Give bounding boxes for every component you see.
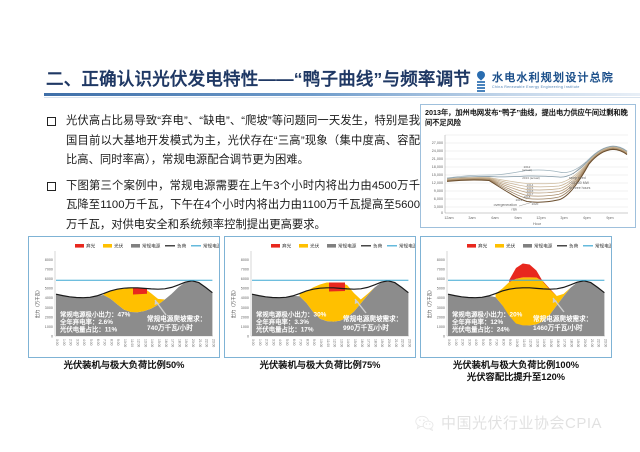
svg-text:17:00: 17:00 [367, 339, 371, 347]
svg-text:15:00: 15:00 [549, 339, 553, 347]
water-drop-icon [476, 70, 487, 92]
svg-text:4000: 4000 [437, 296, 445, 300]
slide-canvas: 二、正确认识光伏发电特性——“鸭子曲线”与频率调节 水电水利规划设计总院 Chi… [0, 0, 640, 452]
svg-text:7000: 7000 [437, 268, 445, 272]
svg-text:22:00: 22:00 [597, 339, 601, 347]
svg-text:7000: 7000 [241, 268, 249, 272]
svg-text:11:00: 11:00 [326, 339, 330, 347]
svg-text:出力（万千瓦）: 出力（万千瓦） [426, 288, 433, 319]
svg-text:10:00: 10:00 [319, 339, 323, 347]
svg-text:0: 0 [441, 211, 443, 215]
svg-text:1000: 1000 [437, 325, 445, 329]
svg-text:16:00: 16:00 [164, 339, 168, 347]
svg-text:8000: 8000 [241, 258, 249, 262]
square-bullet-icon [47, 117, 56, 126]
svg-text:7000: 7000 [45, 268, 53, 272]
chart-caption-100: 光伏装机与极大负荷比例100% 光伏容配比提升至120% [420, 360, 612, 383]
svg-text:常规电源开机: 常规电源开机 [399, 243, 415, 250]
svg-text:光伏: 光伏 [506, 243, 516, 250]
svg-text:12,000: 12,000 [432, 181, 443, 185]
duck-curve-panel: 2013年，加州电网发布“鸭子”曲线，提出电力供应午间过剩和晚间不足风险 0 [420, 104, 636, 228]
svg-text:18:00: 18:00 [373, 339, 377, 347]
svg-text:13:00: 13:00 [535, 339, 539, 347]
svg-text:光伏: 光伏 [310, 243, 320, 250]
svg-text:常规电源开机: 常规电源开机 [203, 243, 219, 250]
svg-text:17:00: 17:00 [171, 339, 175, 347]
svg-text:全年弃电率：2.6%: 全年弃电率：2.6% [59, 317, 113, 326]
svg-text:23:00: 23:00 [407, 339, 411, 347]
title-divider-secondary [44, 97, 640, 98]
svg-text:6000: 6000 [45, 277, 53, 281]
svg-text:19:00: 19:00 [184, 339, 188, 347]
svg-text:1000: 1000 [241, 325, 249, 329]
svg-text:常规电源: 常规电源 [338, 243, 357, 250]
svg-text:15:00: 15:00 [157, 339, 161, 347]
svg-text:in three hours: in three hours [569, 186, 591, 190]
svg-text:6am: 6am [491, 216, 498, 220]
svg-text:1000: 1000 [45, 325, 53, 329]
svg-text:常规电源: 常规电源 [142, 243, 161, 250]
svg-text:2000: 2000 [437, 315, 445, 319]
svg-text:常规电源极小出力：20%: 常规电源极小出力：20% [452, 310, 523, 319]
svg-text:3000: 3000 [241, 306, 249, 310]
svg-text:(actual): (actual) [522, 168, 532, 172]
body-bullets: 光伏高占比易导致“弃电”、“缺电”、“爬坡”等问题同一天发生，特别是我国目前以大… [44, 112, 420, 241]
svg-text:6,000: 6,000 [434, 197, 443, 201]
svg-text:5000: 5000 [437, 287, 445, 291]
duck-curve-caption: 2013年，加州电网发布“鸭子”曲线，提出电力供应午间过剩和晚间不足风险 [425, 108, 633, 128]
svg-text:5:00: 5:00 [285, 339, 289, 346]
svg-text:10:00: 10:00 [123, 339, 127, 347]
square-bullet-icon [47, 182, 56, 191]
svg-text:2:00: 2:00 [265, 339, 269, 346]
svg-text:3:00: 3:00 [75, 339, 79, 346]
svg-text:5000: 5000 [45, 287, 53, 291]
svg-text:16:00: 16:00 [556, 339, 560, 347]
svg-text:4000: 4000 [241, 296, 249, 300]
svg-text:6pm: 6pm [583, 216, 590, 220]
svg-text:12:00: 12:00 [137, 339, 141, 347]
duck-curve-chart: 0 3,000 6,000 9,000 12,000 15,000 18,000… [423, 129, 635, 226]
svg-text:20:00: 20:00 [191, 339, 195, 347]
svg-text:21:00: 21:00 [394, 339, 398, 347]
svg-text:22:00: 22:00 [401, 339, 405, 347]
svg-text:负荷: 负荷 [569, 243, 579, 250]
svg-text:常规电源开机: 常规电源开机 [595, 243, 611, 250]
svg-text:9pm: 9pm [606, 216, 613, 220]
svg-text:12am: 12am [444, 216, 453, 220]
svg-text:常规电源爬坡需求：: 常规电源爬坡需求： [147, 314, 206, 323]
svg-text:4:00: 4:00 [474, 339, 478, 346]
svg-text:7:00: 7:00 [495, 339, 499, 346]
svg-text:1:00: 1:00 [454, 339, 458, 346]
svg-text:3:00: 3:00 [271, 339, 275, 346]
svg-text:17:00: 17:00 [563, 339, 567, 347]
svg-text:8000: 8000 [45, 258, 53, 262]
svg-text:出力（万千瓦）: 出力（万千瓦） [230, 288, 237, 319]
svg-text:14:00: 14:00 [150, 339, 154, 347]
svg-text:risk: risk [512, 208, 518, 212]
svg-text:21:00: 21:00 [590, 339, 594, 347]
svg-text:3000: 3000 [437, 306, 445, 310]
svg-text:13:00: 13:00 [339, 339, 343, 347]
svg-text:5000: 5000 [241, 287, 249, 291]
svg-text:弃光: 弃光 [86, 243, 96, 250]
svg-text:19:00: 19:00 [576, 339, 580, 347]
svg-text:20:00: 20:00 [583, 339, 587, 347]
footer-watermark: 中国光伏行业协会CPIA [415, 412, 602, 433]
svg-text:7:00: 7:00 [299, 339, 303, 346]
svg-text:1:00: 1:00 [62, 339, 66, 346]
svg-text:光伏电量占比：17%: 光伏电量占比：17% [255, 325, 314, 334]
scenario-chart-100: 0 1000 2000 3000 4000 5000 6000 7000 800… [420, 236, 612, 358]
svg-text:全年弃电率：3.3%: 全年弃电率：3.3% [255, 317, 309, 326]
svg-text:18,000: 18,000 [432, 165, 443, 169]
svg-text:负荷: 负荷 [373, 243, 383, 250]
svg-text:14:00: 14:00 [346, 339, 350, 347]
svg-text:24,000: 24,000 [432, 149, 443, 153]
svg-text:0: 0 [443, 335, 445, 339]
svg-text:23:00: 23:00 [603, 339, 607, 347]
svg-text:0:00: 0:00 [447, 339, 451, 346]
institute-logo: 水电水利规划设计总院 China Renewable Energy Engine… [476, 70, 614, 92]
svg-text:常规电源爬坡需求：: 常规电源爬坡需求： [343, 314, 402, 323]
svg-text:1:00: 1:00 [258, 339, 262, 346]
caption-line: 光伏容配比提升至120% [420, 372, 612, 384]
wechat-icon [415, 415, 434, 431]
watermark-text: 中国光伏行业协会CPIA [441, 412, 602, 433]
caption-line: 光伏装机与极大负荷比例75% [224, 360, 416, 372]
svg-text:2:00: 2:00 [461, 339, 465, 346]
svg-text:0:00: 0:00 [251, 339, 255, 346]
svg-text:740万千瓦/小时: 740万千瓦/小时 [147, 323, 193, 332]
svg-text:负荷: 负荷 [177, 243, 187, 250]
svg-text:光伏电量占比：24%: 光伏电量占比：24% [451, 325, 510, 334]
caption-line: 光伏装机与极大负荷比例100% [420, 360, 612, 372]
svg-text:4000: 4000 [45, 296, 53, 300]
svg-text:光伏: 光伏 [114, 243, 124, 250]
svg-text:0: 0 [247, 335, 249, 339]
svg-text:ramp need: ramp need [569, 176, 586, 180]
svg-text:0:00: 0:00 [55, 339, 59, 346]
svg-text:全年弃电率：12%: 全年弃电率：12% [451, 317, 503, 326]
svg-text:4:00: 4:00 [278, 339, 282, 346]
svg-text:12:00: 12:00 [529, 339, 533, 347]
svg-text:0: 0 [51, 335, 53, 339]
svg-text:9:00: 9:00 [508, 339, 512, 346]
svg-text:6:00: 6:00 [488, 339, 492, 346]
svg-text:弃光: 弃光 [282, 243, 292, 250]
scenario-chart-75: 0 1000 2000 3000 4000 5000 6000 7000 800… [224, 236, 416, 358]
svg-text:14:00: 14:00 [542, 339, 546, 347]
svg-text:~13,000 MW: ~13,000 MW [569, 181, 590, 185]
svg-text:12pm: 12pm [536, 216, 545, 220]
svg-text:18:00: 18:00 [569, 339, 573, 347]
svg-text:6000: 6000 [241, 277, 249, 281]
svg-text:7:00: 7:00 [103, 339, 107, 346]
svg-text:常规电源极小出力：47%: 常规电源极小出力：47% [60, 310, 131, 319]
svg-text:弃光: 弃光 [478, 243, 488, 250]
svg-text:18:00: 18:00 [177, 339, 181, 347]
chart-caption-50: 光伏装机与极大负荷比例50% [28, 360, 220, 372]
svg-text:常规电源极小出力：30%: 常规电源极小出力：30% [256, 310, 327, 319]
svg-text:21:00: 21:00 [198, 339, 202, 347]
svg-text:8:00: 8:00 [501, 339, 505, 346]
svg-text:10:00: 10:00 [515, 339, 519, 347]
svg-text:3pm: 3pm [560, 216, 567, 220]
svg-text:11:00: 11:00 [130, 339, 134, 347]
svg-text:12:00: 12:00 [333, 339, 337, 347]
caption-line: 光伏装机与极大负荷比例50% [28, 360, 220, 372]
svg-text:overgeneration: overgeneration [494, 203, 517, 207]
svg-text:2013 (actual): 2013 (actual) [522, 176, 540, 180]
svg-text:8:00: 8:00 [109, 339, 113, 346]
svg-text:13:00: 13:00 [143, 339, 147, 347]
svg-text:常规电源爬坡需求：: 常规电源爬坡需求： [533, 314, 592, 323]
svg-text:9,000: 9,000 [434, 189, 443, 193]
logo-name-en: China Renewable Energy Engineering Insti… [492, 84, 614, 90]
svg-text:3,000: 3,000 [434, 205, 443, 209]
svg-text:22:00: 22:00 [205, 339, 209, 347]
svg-text:27,000: 27,000 [432, 141, 443, 145]
svg-text:9:00: 9:00 [312, 339, 316, 346]
svg-text:15:00: 15:00 [353, 339, 357, 347]
svg-text:6000: 6000 [437, 277, 445, 281]
svg-text:5:00: 5:00 [481, 339, 485, 346]
svg-text:20:00: 20:00 [387, 339, 391, 347]
svg-text:6:00: 6:00 [96, 339, 100, 346]
svg-text:1460万千瓦/小时: 1460万千瓦/小时 [533, 323, 583, 332]
chart-caption-75: 光伏装机与极大负荷比例75% [224, 360, 416, 372]
svg-text:8:00: 8:00 [305, 339, 309, 346]
svg-text:8000: 8000 [437, 258, 445, 262]
svg-text:3:00: 3:00 [467, 339, 471, 346]
svg-text:Hour: Hour [533, 222, 542, 226]
svg-text:23:00: 23:00 [211, 339, 215, 347]
svg-text:2018: 2018 [524, 195, 531, 199]
svg-text:6:00: 6:00 [292, 339, 296, 346]
svg-text:15,000: 15,000 [432, 173, 443, 177]
svg-text:2000: 2000 [45, 315, 53, 319]
svg-text:2000: 2000 [241, 315, 249, 319]
svg-text:9:00: 9:00 [116, 339, 120, 346]
svg-text:9am: 9am [514, 216, 521, 220]
svg-text:3000: 3000 [45, 306, 53, 310]
svg-text:21,000: 21,000 [432, 157, 443, 161]
svg-text:光伏电量占比：11%: 光伏电量占比：11% [59, 325, 117, 334]
svg-text:2019: 2019 [516, 198, 523, 202]
svg-text:19:00: 19:00 [380, 339, 384, 347]
page-title: 二、正确认识光伏发电特性——“鸭子曲线”与频率调节 [46, 66, 471, 91]
scenario-chart-50: 0 1000 2000 3000 4000 5000 6000 7000 800… [28, 236, 220, 358]
svg-text:990万千瓦/小时: 990万千瓦/小时 [343, 323, 389, 332]
svg-text:出力（万千瓦）: 出力（万千瓦） [34, 288, 41, 319]
bullet-item: 光伏高占比易导致“弃电”、“缺电”、“爬坡”等问题同一天发生，特别是我国目前以大… [44, 112, 420, 171]
svg-text:2:00: 2:00 [69, 339, 73, 346]
bullet-text: 光伏高占比易导致“弃电”、“缺电”、“爬坡”等问题同一天发生，特别是我国目前以大… [66, 115, 420, 166]
svg-text:11:00: 11:00 [522, 339, 526, 347]
svg-text:3am: 3am [468, 216, 475, 220]
svg-text:2020: 2020 [532, 202, 539, 206]
logo-name-cn: 水电水利规划设计总院 [492, 72, 614, 84]
bullet-item: 下图第三个案例中，常规电源需要在上午3个小时内将出力由4500万千瓦降至1100… [44, 177, 420, 236]
svg-text:4:00: 4:00 [82, 339, 86, 346]
bullet-text: 下图第三个案例中，常规电源需要在上午3个小时内将出力由4500万千瓦降至1100… [66, 180, 420, 231]
svg-text:16:00: 16:00 [360, 339, 364, 347]
svg-text:5:00: 5:00 [89, 339, 93, 346]
svg-text:常规电源: 常规电源 [534, 243, 553, 250]
